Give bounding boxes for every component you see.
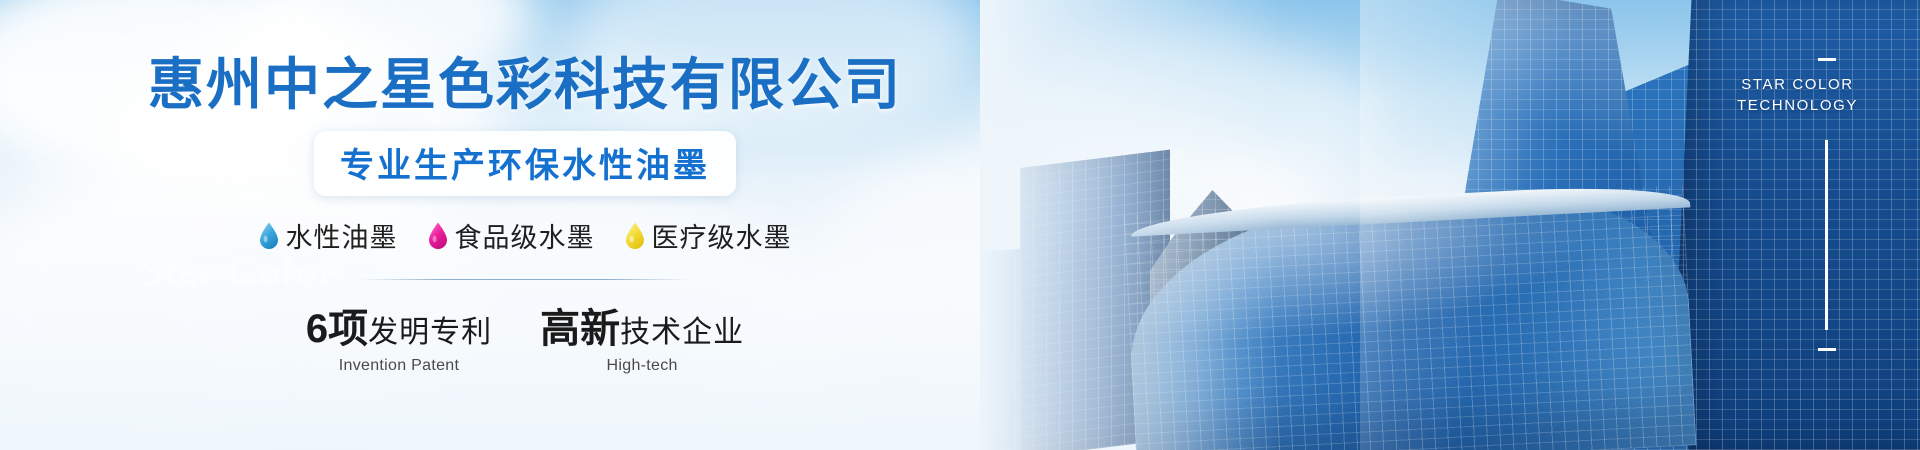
feature-item: 医疗级水墨 bbox=[625, 216, 792, 255]
credential-list: 6项 发明专利 Invention Patent 高新 技术企业 High-te… bbox=[306, 296, 744, 375]
credential-subtitle: High-tech bbox=[540, 357, 744, 375]
feature-list: 水性油墨 食品级水墨 bbox=[259, 216, 792, 255]
credential-strong: 高新 bbox=[540, 296, 620, 354]
feature-label: 医疗级水墨 bbox=[652, 216, 792, 255]
credential-item: 高新 技术企业 High-tech bbox=[540, 296, 744, 375]
credential-rest: 技术企业 bbox=[620, 307, 744, 351]
water-drop-icon bbox=[259, 222, 279, 249]
banner-content: 惠州中之星色彩科技有限公司 专业生产环保水性油墨 水性油墨 bbox=[0, 0, 1050, 450]
credential-strong: 6项 bbox=[306, 296, 368, 354]
feature-label: 水性油墨 bbox=[286, 216, 398, 255]
feature-item: 水性油墨 bbox=[259, 216, 398, 255]
credential-item: 6项 发明专利 Invention Patent bbox=[306, 296, 492, 375]
section-divider bbox=[360, 279, 690, 280]
building-label-line-1: STAR COLOR bbox=[1737, 74, 1858, 95]
skyscraper-photo bbox=[980, 0, 1920, 450]
tagline-text: 专业生产环保水性油墨 bbox=[340, 138, 710, 187]
building-right-tall bbox=[1670, 0, 1920, 450]
water-drop-icon bbox=[625, 222, 645, 249]
tagline-pill: 专业生产环保水性油墨 bbox=[314, 131, 736, 196]
building-label-line-2: TECHNOLOGY bbox=[1737, 95, 1858, 116]
credential-main: 6项 发明专利 bbox=[306, 296, 492, 354]
company-title: 惠州中之星色彩科技有限公司 bbox=[148, 56, 902, 115]
promo-banner: Star Color STAR COLOR TECHNOLOGY 惠州中之星色彩… bbox=[0, 0, 1920, 450]
marker-vertical-line bbox=[1825, 140, 1828, 330]
marker-tick-bottom bbox=[1818, 348, 1836, 351]
marker-tick-top bbox=[1818, 58, 1836, 61]
credential-subtitle: Invention Patent bbox=[306, 357, 492, 375]
feature-label: 食品级水墨 bbox=[455, 216, 595, 255]
credential-rest: 发明专利 bbox=[368, 307, 492, 351]
feature-item: 食品级水墨 bbox=[428, 216, 595, 255]
building-brand-label: STAR COLOR TECHNOLOGY bbox=[1737, 74, 1858, 116]
water-drop-icon bbox=[428, 222, 448, 249]
credential-main: 高新 技术企业 bbox=[540, 296, 744, 354]
